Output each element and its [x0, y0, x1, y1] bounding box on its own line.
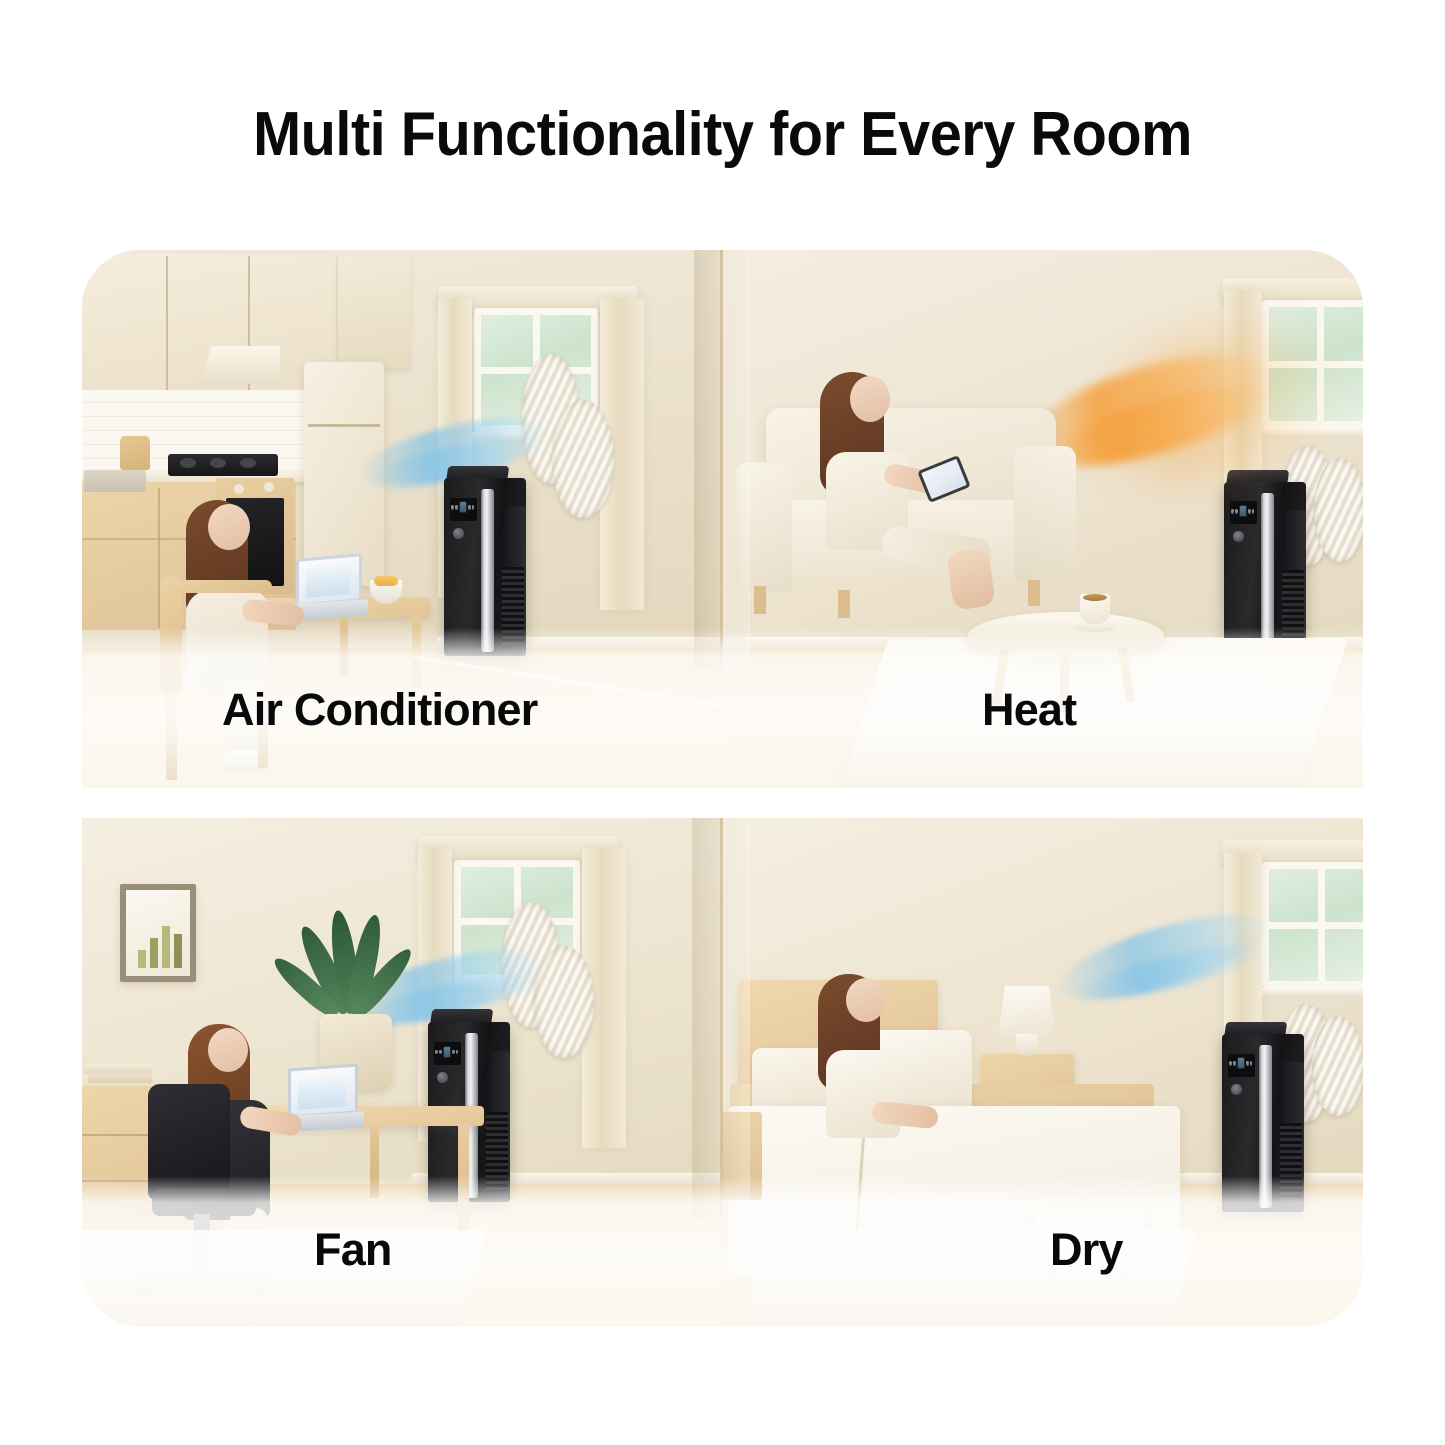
portable-ac-unit — [1224, 482, 1306, 658]
exhaust-hose-bend — [1312, 1016, 1363, 1116]
scene-label-heat: Heat — [982, 684, 1076, 736]
art-bar — [138, 950, 146, 968]
art-bar — [162, 926, 170, 968]
ac-button[interactable] — [455, 505, 457, 510]
ac-button[interactable] — [468, 505, 470, 510]
ac-control-panel[interactable] — [450, 498, 477, 521]
woman-head — [208, 504, 250, 550]
ac-louver-vent — [486, 1112, 507, 1191]
woman-lower-leg — [946, 547, 996, 610]
table-lamp-shade — [998, 986, 1056, 1038]
framed-art — [120, 884, 196, 982]
ac-display — [1239, 505, 1246, 517]
fridge-divider — [308, 424, 380, 427]
dining-chair-back — [160, 576, 182, 696]
scene-dry — [722, 818, 1363, 1326]
ac-control-panel[interactable] — [1228, 1054, 1255, 1077]
oven-knob — [234, 484, 244, 494]
ac-louver-vent — [1280, 1123, 1301, 1201]
area-rug — [738, 1230, 1196, 1326]
woman-head — [850, 376, 890, 422]
woman-torso — [826, 1050, 900, 1138]
sofa-leg — [754, 586, 766, 614]
window — [1262, 862, 1363, 988]
office-chair-back — [148, 1084, 230, 1200]
snack-bowl-contents — [374, 576, 398, 586]
ac-display — [459, 501, 466, 513]
panel-bottom: Fan Dry — [82, 818, 1363, 1326]
cabinet-seam — [166, 256, 168, 400]
exhaust-hose-bend — [552, 400, 614, 518]
exhaust-hose-bend — [1314, 458, 1363, 562]
ac-button[interactable] — [1229, 1061, 1231, 1066]
ac-control-panel[interactable] — [434, 1042, 461, 1065]
art-bar — [174, 934, 182, 968]
page-title: Multi Functionality for Every Room — [51, 99, 1395, 170]
laptop-screen-content — [298, 1078, 346, 1109]
upper-cabinet-right — [338, 256, 410, 368]
ac-button[interactable] — [472, 505, 474, 510]
area-rug — [82, 1230, 488, 1326]
burner — [240, 458, 256, 468]
window-muntin-horizontal — [1269, 922, 1363, 929]
ac-louver-vent — [502, 567, 523, 645]
ac-button[interactable] — [1252, 509, 1254, 514]
ac-button[interactable] — [1248, 509, 1250, 514]
room-corner-edge — [720, 250, 723, 670]
portable-ac-unit — [1222, 1034, 1304, 1212]
woman-head — [846, 978, 886, 1022]
scene-label-air-conditioner: Air Conditioner — [222, 684, 537, 736]
window-muntin-horizontal — [1269, 361, 1363, 368]
window-sill — [1250, 428, 1363, 438]
desk-leg — [370, 1124, 379, 1198]
dining-table-leg — [412, 616, 421, 688]
ac-button[interactable] — [1233, 1061, 1235, 1066]
sofa-arm-right — [1014, 446, 1076, 582]
coffee-cup-contents — [1083, 594, 1107, 601]
ac-button[interactable] — [1246, 1061, 1248, 1066]
room-corner-edge — [720, 818, 723, 1218]
ac-button[interactable] — [452, 1050, 454, 1055]
oven-knob — [264, 482, 274, 492]
ac-silver-strip — [481, 489, 494, 653]
ac-button[interactable] — [1250, 1061, 1252, 1066]
ac-control-panel[interactable] — [1230, 501, 1257, 524]
window-sill — [1250, 988, 1363, 998]
ac-display — [1237, 1057, 1244, 1069]
panel-top: Air Conditioner Heat — [82, 250, 1363, 788]
burner — [180, 458, 196, 468]
art-bar — [150, 938, 158, 968]
ac-button[interactable] — [439, 1050, 441, 1055]
portable-ac-unit — [444, 478, 526, 656]
dining-chair-rail — [160, 580, 272, 593]
dining-table-leg — [340, 616, 348, 676]
burner — [210, 458, 226, 468]
woman-head — [208, 1028, 248, 1072]
stacked-books — [84, 1064, 152, 1074]
area-rug — [840, 638, 1349, 788]
table-lamp-base — [1016, 1034, 1038, 1056]
ac-silver-strip — [1261, 493, 1274, 655]
refrigerator — [304, 362, 384, 586]
ac-button[interactable] — [451, 505, 453, 510]
range-hood — [200, 346, 280, 384]
coffee-table-top — [968, 612, 1164, 660]
office-chair-seat — [152, 1188, 256, 1216]
ac-brand-logo — [1233, 531, 1244, 542]
sofa-leg — [838, 590, 850, 618]
kitchen-sink — [84, 470, 146, 492]
ac-louver-vent — [1282, 570, 1303, 647]
ac-display — [443, 1046, 450, 1058]
ac-button[interactable] — [435, 1050, 437, 1055]
laptop-screen-content — [306, 566, 350, 598]
scene-label-dry: Dry — [1050, 1224, 1123, 1276]
stacked-books — [88, 1074, 152, 1083]
sofa-leg — [1028, 580, 1040, 606]
dining-chair-leg — [166, 694, 177, 780]
ac-brand-logo — [437, 1072, 448, 1083]
ac-button[interactable] — [1231, 509, 1233, 514]
scene-fan — [82, 818, 722, 1326]
counter-canister — [120, 436, 150, 470]
ac-brand-logo — [1231, 1084, 1242, 1095]
ac-brand-logo — [453, 528, 464, 539]
ac-button[interactable] — [1235, 509, 1237, 514]
exhaust-hose-bend — [534, 946, 594, 1058]
window — [1262, 300, 1363, 428]
ac-button[interactable] — [456, 1050, 458, 1055]
ac-silver-strip — [1259, 1045, 1272, 1209]
infographic-page: Multi Functionality for Every Room — [0, 0, 1445, 1445]
scene-label-fan: Fan — [314, 1224, 392, 1276]
